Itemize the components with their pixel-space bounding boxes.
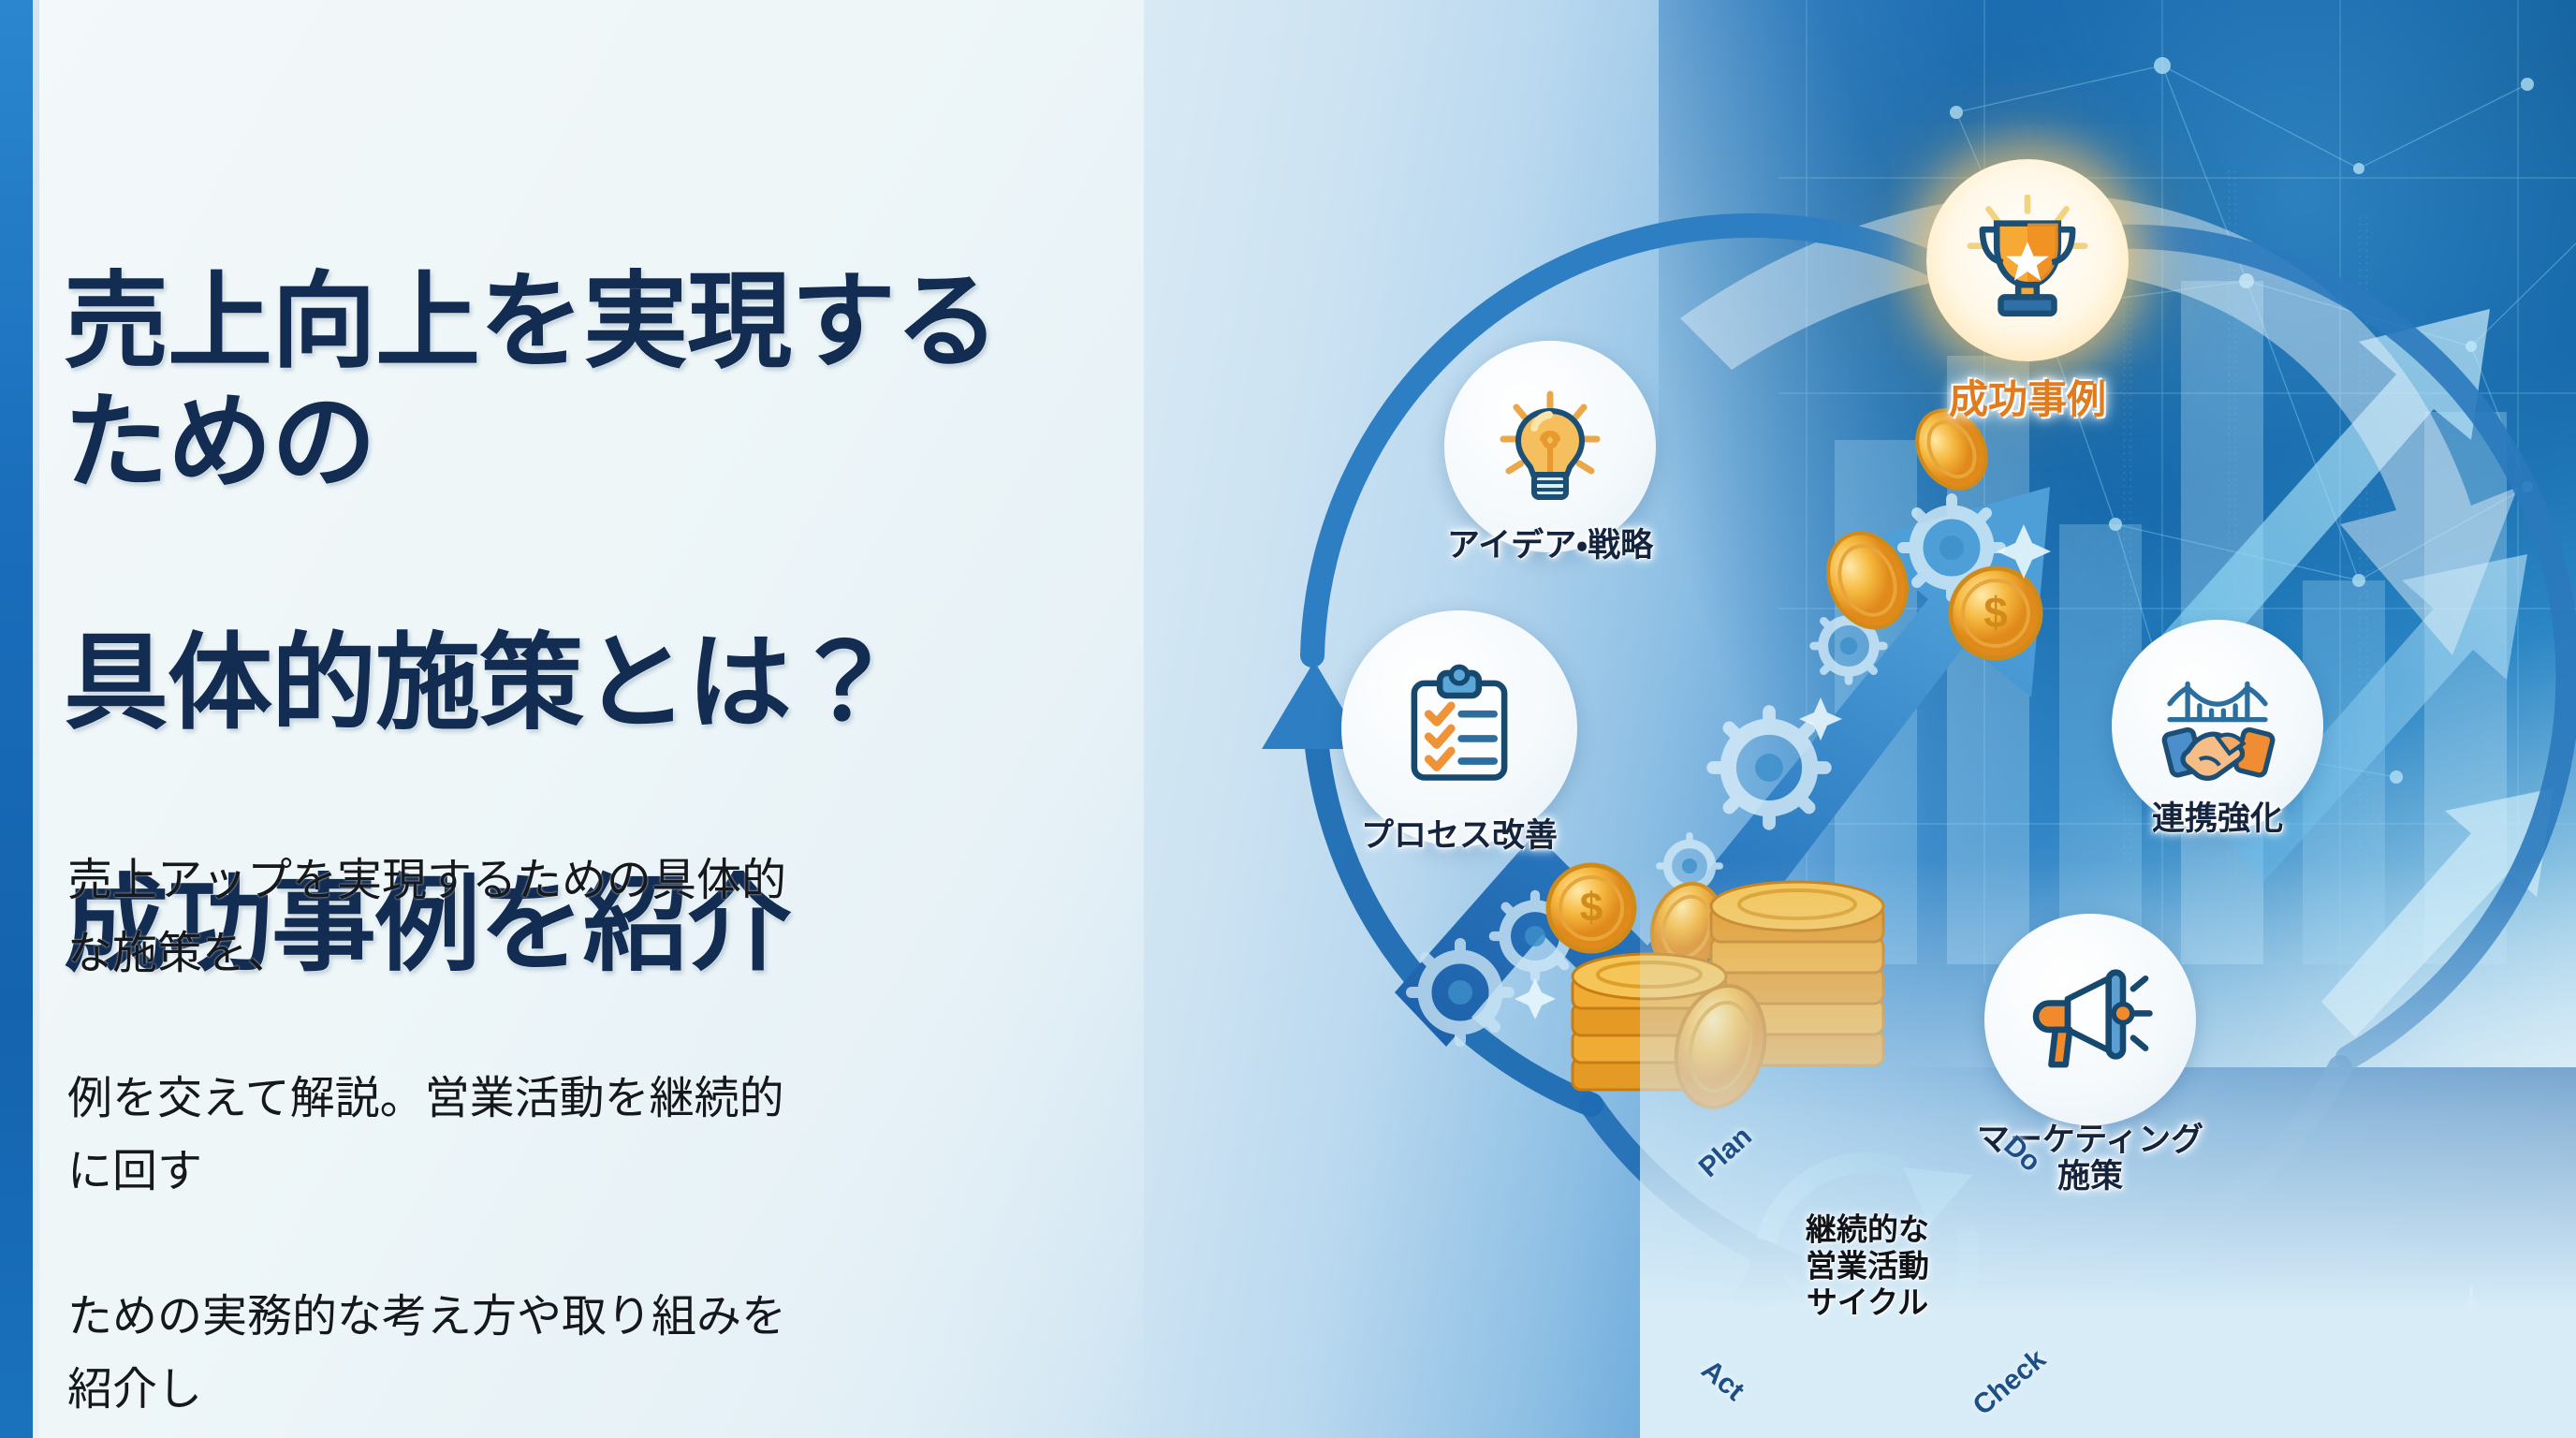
bubble-success-label: 成功事例 bbox=[1859, 377, 2196, 421]
pdca-label-do: Do bbox=[1998, 1130, 2046, 1179]
svg-text:$: $ bbox=[1580, 885, 1603, 931]
pdca-label-plan: Plan bbox=[1693, 1121, 1759, 1184]
lead-line-2: 例を交えて解説。営業活動を継続的に回す bbox=[67, 1063, 816, 1209]
trophy-icon bbox=[1962, 195, 2093, 326]
bubble-idea[interactable]: アイデア・戦略 bbox=[1444, 341, 1656, 552]
pdca-center-label: 継続的な 営業活動 サイクル bbox=[1806, 1212, 1929, 1322]
svg-text:$: $ bbox=[1983, 588, 2008, 637]
bubble-marketing[interactable]: マーケティング 施策 bbox=[1984, 914, 2196, 1125]
lead-line-1: 売上アップを実現するための具体的な施策を、 bbox=[67, 844, 816, 990]
lead-paragraph: 売上アップを実現するための具体的な施策を、 例を交えて解説。営業活動を継続的に回… bbox=[67, 771, 816, 1438]
title-line-2: 具体的施策とは？ bbox=[64, 624, 1056, 744]
bubble-process[interactable]: プロセス改善 bbox=[1341, 610, 1577, 846]
handshake-bridge-icon bbox=[2154, 662, 2281, 789]
bubble-process-label: プロセス改善 bbox=[1305, 817, 1614, 854]
bubble-partner[interactable]: 連携強化 bbox=[2112, 620, 2323, 831]
bubble-idea-label: アイデア・戦略 bbox=[1396, 527, 1705, 564]
megaphone-icon bbox=[2025, 954, 2156, 1085]
hero-banner: $ $ bbox=[0, 0, 2576, 1438]
clipboard-checklist-icon bbox=[1394, 663, 1525, 794]
bubble-partner-label: 連携強化 bbox=[2077, 800, 2358, 837]
left-edge-strip bbox=[0, 0, 33, 1438]
lightbulb-icon bbox=[1490, 387, 1610, 506]
pdca-cycle: Plan Do Check Act 継続的な 営業活動 サイクル bbox=[1685, 1131, 2050, 1402]
left-edge-highlight bbox=[33, 0, 39, 1438]
bubble-success[interactable]: 成功事例 bbox=[1926, 159, 2129, 361]
pdca-label-act: Act bbox=[1695, 1354, 1750, 1407]
lead-line-3: ための実務的な考え方や取り組みを紹介し bbox=[67, 1281, 816, 1427]
title-line-1: 売上向上を実現するための bbox=[64, 262, 1056, 504]
